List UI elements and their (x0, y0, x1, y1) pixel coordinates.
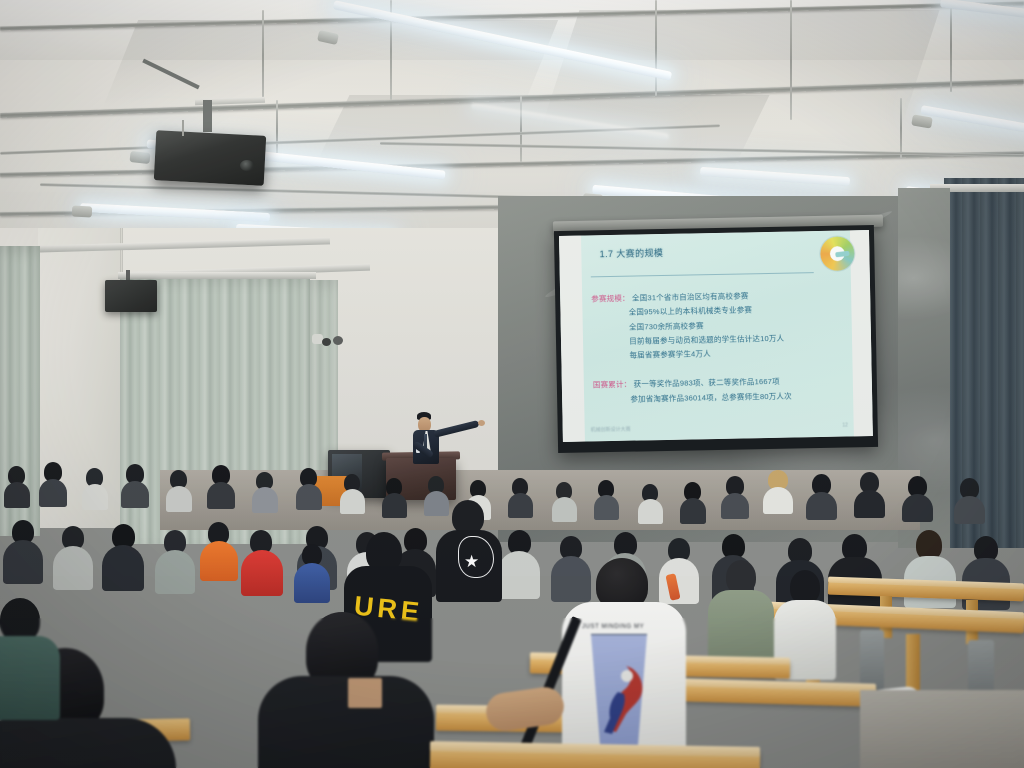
projector (154, 130, 266, 186)
ceiling-light (700, 167, 850, 186)
slide-margin-right (850, 230, 873, 436)
slide-body-line: 目前每届参与动员和选题的学生估计达10万人 (629, 333, 784, 347)
slide-footer: 机械创新设计大赛 (591, 425, 631, 433)
slide-title-underline (591, 272, 814, 277)
slide-section-label: 参赛规模： (591, 293, 630, 303)
slide-body-line: 全国730余所高校参赛 (629, 320, 704, 332)
chair-back[interactable] (860, 630, 884, 690)
slide-body-line: 每届省赛参赛学生4万人 (629, 348, 711, 361)
projector-mount-pole (203, 100, 212, 132)
star-icon: ★ (464, 552, 479, 572)
slide-body-line: 全国95%以上的本科机械类专业参赛 (629, 304, 753, 317)
floor (860, 690, 1024, 768)
presentation-slide: 1.7 大赛的规模 参赛规模： 全国31个省市自治区均有高校参赛 全国95%以上… (559, 230, 873, 442)
slide-section-label: 国赛累计： (593, 380, 632, 390)
student-neck (348, 678, 382, 708)
slide-body-line: 全国31个省市自治区均有高校参赛 (632, 291, 749, 302)
slide-page-number: 12 (842, 422, 848, 428)
presenter-hand (478, 420, 485, 426)
security-camera-dome (322, 338, 331, 346)
slide-body-line: 参加省淘赛作品36014项，总参赛师生80万人次 (630, 390, 792, 404)
ceiling-light (920, 105, 1024, 140)
spiderman-tee-text: JUST MINDING MY (582, 624, 644, 630)
security-camera (333, 336, 343, 345)
lecture-hall-photo: 1.7 大赛的规模 参赛规模： 全国31个省市自治区均有高校参赛 全国95%以上… (0, 0, 1024, 768)
wall-speaker (105, 280, 157, 312)
slide-body-line: 获一等奖作品983项、获二等奖作品1667项 (634, 377, 780, 389)
spiderman-figure-icon (600, 662, 644, 736)
projection-screen-surface[interactable]: 1.7 大赛的规模 参赛规模： 全国31个省市自治区均有高校参赛 全国95%以上… (559, 230, 873, 442)
projector-lens (240, 160, 254, 171)
slide-title: 1.7 大赛的规模 (600, 246, 664, 260)
slide-margin-left (559, 236, 585, 442)
desk-leg (906, 634, 920, 690)
ceiling-light (80, 203, 270, 222)
curtain-rail (118, 272, 316, 279)
projection-screen-frame[interactable]: 1.7 大赛的规模 参赛规模： 全国31个省市自治区均有高校参赛 全国95%以上… (554, 225, 878, 453)
competition-logo-icon (820, 237, 855, 272)
